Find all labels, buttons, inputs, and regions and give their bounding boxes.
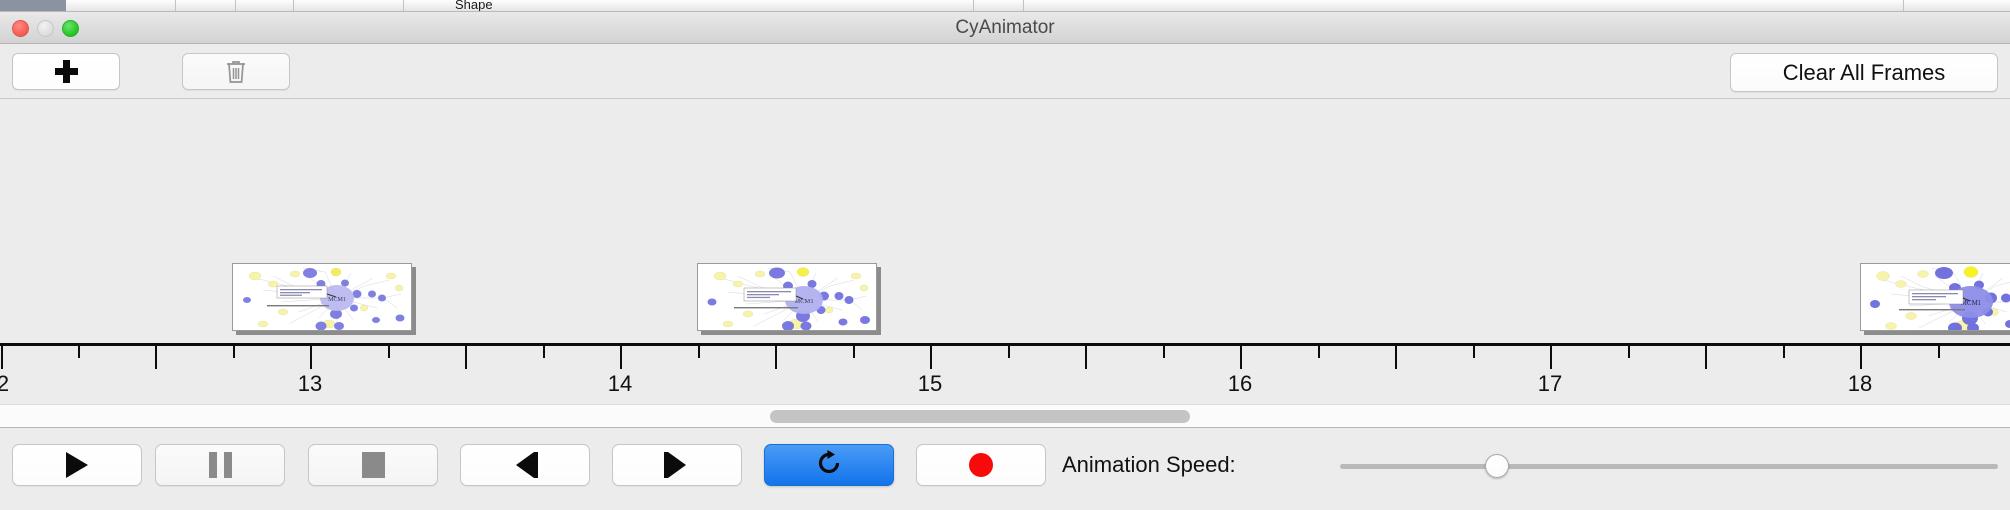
axis-tick-minor <box>1163 346 1165 358</box>
skip-to-start-icon <box>512 452 538 478</box>
background-toolbar-chunk <box>1904 0 2010 12</box>
cyanimator-window: CyAnimator Clear All Frames <box>0 12 2010 510</box>
keyframe-thumbnail[interactable]: MCM1 <box>232 263 412 331</box>
background-panel-dark <box>0 0 66 12</box>
loop-button[interactable] <box>764 444 894 486</box>
background-toolbar-chunk <box>294 0 404 12</box>
axis-tick-major <box>1085 346 1087 369</box>
playback-controls: Animation Speed: <box>0 428 2010 506</box>
scrollbar-thumb[interactable] <box>770 410 1190 423</box>
window-title: CyAnimator <box>0 12 2010 44</box>
clear-all-frames-button[interactable]: Clear All Frames <box>1730 53 1998 92</box>
window-titlebar: CyAnimator <box>0 12 2010 44</box>
frame-toolbar: Clear All Frames <box>0 44 2010 99</box>
axis-tick-minor <box>78 346 80 358</box>
axis-tick-label: 16 <box>1228 371 1252 397</box>
pause-button[interactable] <box>155 444 285 486</box>
axis-tick-label: 14 <box>608 371 632 397</box>
background-shape-label: Shape <box>455 0 493 11</box>
axis-tick-major <box>775 346 777 369</box>
slider-thumb[interactable] <box>1485 454 1509 478</box>
axis-tick-major <box>310 346 312 369</box>
loop-icon <box>815 449 843 482</box>
svg-text:MCM1: MCM1 <box>328 297 346 303</box>
svg-text:MCM1: MCM1 <box>1961 299 1982 307</box>
pause-icon <box>209 452 232 478</box>
slider-track[interactable] <box>1340 464 1998 469</box>
axis-tick-minor <box>1783 346 1785 358</box>
record-icon <box>969 453 993 477</box>
skip-to-start-button[interactable] <box>460 444 590 486</box>
axis-tick-major <box>155 346 157 369</box>
axis-tick-minor <box>1008 346 1010 358</box>
background-toolbar-chunk <box>236 0 294 12</box>
axis-tick-label: 2 <box>0 371 9 397</box>
axis-tick-major <box>1395 346 1397 369</box>
play-icon <box>66 452 88 478</box>
axis-tick-major <box>930 346 932 369</box>
skip-to-end-icon <box>664 452 690 478</box>
delete-frame-button[interactable] <box>182 53 290 90</box>
axis-tick-major <box>465 346 467 369</box>
axis-tick-major <box>1860 346 1862 369</box>
keyframe-thumbnail[interactable]: MCM1 <box>1860 263 2010 331</box>
svg-text:MCM1: MCM1 <box>794 298 813 305</box>
axis-tick-label: 13 <box>298 371 322 397</box>
axis-tick-major <box>1 346 3 369</box>
axis-tick-major <box>620 346 622 369</box>
network-thumbnail-15s: MCM1 <box>698 264 876 330</box>
axis-tick-minor <box>1318 346 1320 358</box>
axis-tick-major <box>1705 346 1707 369</box>
axis-tick-minor <box>388 346 390 358</box>
axis-tick-label: 17 <box>1538 371 1562 397</box>
plus-icon <box>55 60 78 83</box>
record-button[interactable] <box>916 444 1046 486</box>
axis-tick-minor <box>698 346 700 358</box>
axis-tick-minor <box>853 346 855 358</box>
timeline-axis: 2 13 14 15 16 17 18 Seconds <box>0 343 2010 344</box>
background-toolbar-chunk <box>1024 0 1904 12</box>
axis-tick-label: 15 <box>918 371 942 397</box>
trash-icon <box>225 59 247 84</box>
background-toolbar-chunk <box>974 0 1024 12</box>
stop-icon <box>362 452 385 478</box>
stop-button[interactable] <box>308 444 438 486</box>
skip-to-end-button[interactable] <box>612 444 742 486</box>
axis-tick-major <box>1240 346 1242 369</box>
axis-tick-minor <box>543 346 545 358</box>
axis-tick-minor <box>1473 346 1475 358</box>
add-frame-button[interactable] <box>12 53 120 90</box>
axis-tick-minor <box>1628 346 1630 358</box>
background-toolbar-chunk <box>176 0 236 12</box>
background-toolbar-chunk <box>66 0 176 12</box>
keyframe-thumbnail[interactable]: MCM1 <box>697 263 877 331</box>
network-thumbnail-18s: MCM1 <box>1861 264 2010 330</box>
timeline-panel[interactable]: MCM1 <box>0 99 2010 404</box>
network-thumbnail-13s: MCM1 <box>233 264 411 330</box>
axis-line <box>0 343 2010 346</box>
axis-tick-major <box>1550 346 1552 369</box>
axis-tick-minor <box>1938 346 1940 358</box>
background-app-toolbar: Shape <box>0 0 2010 12</box>
play-button[interactable] <box>12 444 142 486</box>
animation-speed-label: Animation Speed: <box>1062 444 1236 486</box>
timeline-scrollbar[interactable] <box>0 404 2010 428</box>
axis-tick-label: 18 <box>1848 371 1872 397</box>
axis-tick-minor <box>233 346 235 358</box>
animation-speed-slider[interactable] <box>1340 458 1998 474</box>
